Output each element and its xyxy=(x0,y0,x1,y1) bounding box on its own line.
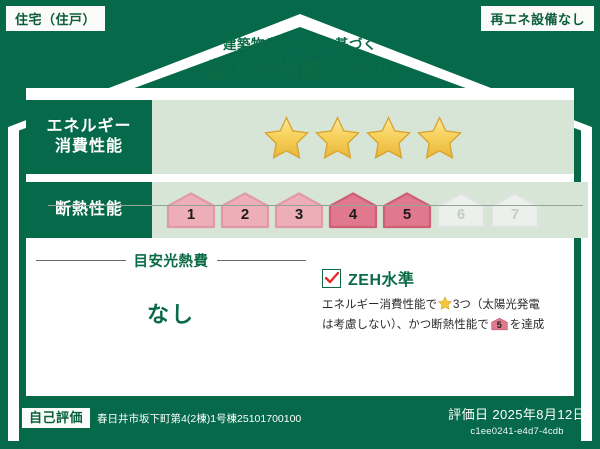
zeh-standard-block: ZEH水準 エネルギー消費性能で 3つ（太陽光発電は考慮しない）、かつ断熱性能で… xyxy=(322,266,568,335)
insulation-level-value: 2 xyxy=(241,207,249,229)
zeh-desc-part3: は考慮しない）、かつ断熱性能で xyxy=(322,319,489,331)
insulation-level-value: 1 xyxy=(187,207,195,229)
zeh-description: エネルギー消費性能で 3つ（太陽光発電は考慮しない）、かつ断熱性能で 5 を達成 xyxy=(322,296,568,335)
star-icon xyxy=(416,115,463,160)
dwelling-type-badge: 住宅（住戸） xyxy=(6,6,105,31)
page-title: 建築物省エネ法に基づく 省エネ性能ラベル xyxy=(0,38,600,82)
card-divider-line xyxy=(48,205,583,206)
zeh-desc-part2: 3つ（太陽光発電 xyxy=(453,299,540,311)
self-evaluation-badge: 自己評価 xyxy=(22,408,90,428)
footer-right: 評価日 2025年8月12日 c1ee0241-e4d7-4cdb xyxy=(448,404,586,437)
zeh-title: ZEH水準 xyxy=(348,266,415,290)
insulation-level-chip: 5 xyxy=(382,191,432,229)
footer-left: 自己評価 春日井市坂下町第4(2棟)1号棟25101700100 xyxy=(22,408,301,428)
utility-cost-value: なし xyxy=(36,297,306,329)
energy-label-root: 住宅（住戸） 再エネ設備なし 建築物省エネ法に基づく 省エネ性能ラベル エネルギ… xyxy=(0,0,600,449)
insulation-level-chip: 6 xyxy=(436,191,486,229)
insulation-level-value: 3 xyxy=(295,207,303,229)
zeh-checkbox[interactable] xyxy=(322,269,341,288)
property-address: 春日井市坂下町第4(2棟)1号棟25101700100 xyxy=(97,411,301,426)
insulation-level-chip: 3 xyxy=(274,191,324,229)
energy-performance-label-line2: 消費性能 xyxy=(55,137,123,157)
inline-insulation-chip: 5 xyxy=(491,317,508,331)
cost-rule-left xyxy=(36,260,126,261)
insulation-level-scale: 1234567 xyxy=(152,182,588,238)
title-main: 省エネ性能ラベル xyxy=(0,59,600,82)
insulation-performance-label: 断熱性能 xyxy=(26,182,152,238)
energy-star-rating xyxy=(152,100,574,174)
utility-cost-heading-text: 目安光熱費 xyxy=(134,250,209,271)
inline-chip-value: 5 xyxy=(491,321,508,330)
insulation-performance-row: 断熱性能 1234567 xyxy=(26,182,588,238)
title-subtitle: 建築物省エネ法に基づく xyxy=(0,38,600,52)
energy-performance-label: エネルギー 消費性能 xyxy=(26,100,152,174)
inline-star-icon xyxy=(438,296,452,317)
insulation-label-text: 断熱性能 xyxy=(55,200,123,220)
star-icon xyxy=(263,115,310,160)
insulation-level-chip: 4 xyxy=(328,191,378,229)
label-card: エネルギー 消費性能 断熱性能 1234567 目安光熱費 なし xyxy=(26,88,574,396)
renewable-equipment-badge: 再エネ設備なし xyxy=(481,6,594,31)
zeh-desc-part1: エネルギー消費性能で xyxy=(322,299,437,311)
utility-cost-heading: 目安光熱費 xyxy=(36,250,306,271)
insulation-level-value: 6 xyxy=(457,207,465,229)
insulation-level-value: 4 xyxy=(349,207,357,229)
star-icon xyxy=(365,115,412,160)
insulation-level-chip: 2 xyxy=(220,191,270,229)
insulation-level-value: 5 xyxy=(403,207,411,229)
energy-performance-label-line1: エネルギー xyxy=(46,117,131,137)
star-icon xyxy=(314,115,361,160)
label-uuid: c1ee0241-e4d7-4cdb xyxy=(448,426,586,437)
cost-rule-right xyxy=(217,260,307,261)
insulation-level-chip: 1 xyxy=(166,191,216,229)
insulation-level-chip: 7 xyxy=(490,191,540,229)
evaluation-date: 評価日 2025年8月12日 xyxy=(448,404,586,423)
check-icon xyxy=(325,272,339,284)
zeh-desc-part4: を達成 xyxy=(510,319,545,331)
zeh-heading: ZEH水準 xyxy=(322,266,568,290)
utility-cost-block: 目安光熱費 なし xyxy=(36,250,306,329)
energy-performance-row: エネルギー 消費性能 xyxy=(26,100,574,174)
insulation-level-value: 7 xyxy=(511,207,519,229)
